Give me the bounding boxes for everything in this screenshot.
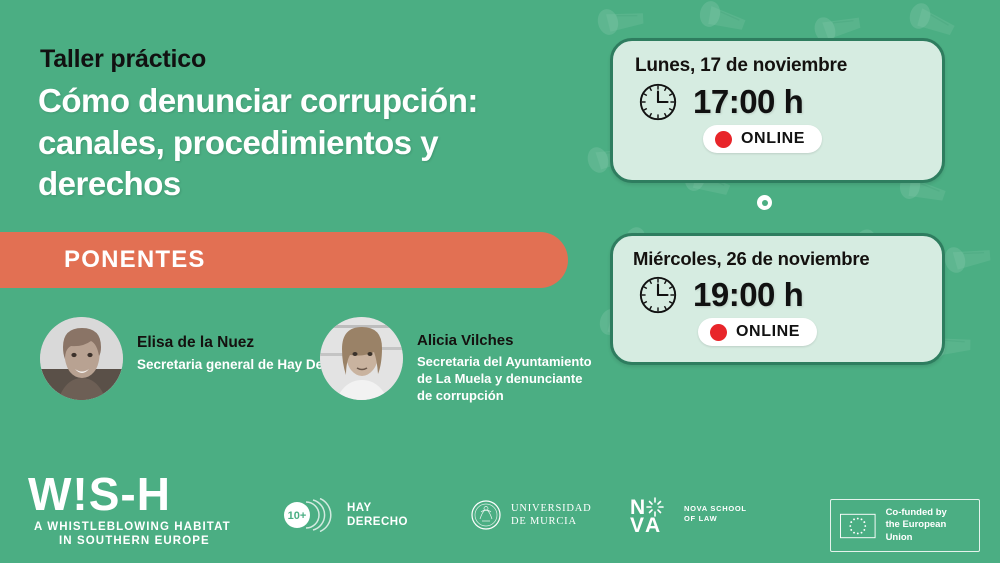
partner-name-line2: the European Union — [886, 519, 970, 544]
wish-logo: W!S-H A WHISTLEBLOWING HABITAT IN SOUTHE… — [28, 470, 243, 548]
dot-separator-icon — [757, 195, 772, 210]
wish-wordmark-text: W!S-H — [28, 470, 171, 520]
partner-name-line2: DERECHO — [347, 515, 408, 529]
status-badge: ONLINE — [703, 125, 822, 153]
partner-name: NOVA SCHOOL OF LAW — [684, 504, 747, 524]
session-date: Lunes, 17 de noviembre — [635, 55, 942, 77]
partner-name-line1: Co-funded by — [886, 507, 970, 519]
page-title: Cómo denunciar corrupción: canales, proc… — [38, 80, 568, 205]
session-card: Lunes, 17 de noviembre 17:00 h ONLINE — [610, 38, 945, 183]
speaker-portrait-photo — [320, 317, 403, 400]
partner-hay-derecho: 10+ HAY DERECHO — [280, 498, 408, 532]
session-time: 17:00 h — [693, 83, 803, 121]
speakers-banner: PONENTES — [0, 232, 568, 288]
session-card: Miércoles, 26 de noviembre 19:00 h ONLIN… — [610, 233, 945, 365]
status-badge-label: ONLINE — [736, 323, 800, 341]
svg-text:A: A — [645, 514, 660, 534]
wish-tagline-line1: A WHISTLEBLOWING HABITAT — [34, 521, 231, 533]
event-poster: { "colors": { "background_green": "#4BAE… — [0, 0, 1000, 563]
status-badge: ONLINE — [698, 318, 817, 346]
partner-name-line1: NOVA SCHOOL — [684, 504, 747, 514]
session-time-row: 17:00 h — [637, 81, 942, 123]
session-date: Miércoles, 26 de noviembre — [633, 248, 942, 270]
avatar — [320, 317, 403, 400]
partner-name-line2: DE MURCIA — [511, 515, 592, 528]
eu-flag-icon — [840, 513, 876, 539]
hay-derecho-badge-text: 10+ — [288, 510, 307, 522]
partner-name-line1: UNIVERSIDAD — [511, 502, 592, 515]
partner-logos: 10+ HAY DERECHO UNIVERSIDAD DE MURCIA N … — [280, 492, 980, 547]
partner-name: UNIVERSIDAD DE MURCIA — [511, 502, 592, 528]
kicker-text: Taller práctico — [40, 45, 206, 74]
partner-universidad-de-murcia: UNIVERSIDAD DE MURCIA — [470, 499, 592, 531]
sessions-panel: Lunes, 17 de noviembre 17:00 h ONLINE — [600, 0, 1000, 400]
wish-tagline-line2: IN SOUTHERN EUROPE — [59, 535, 210, 547]
speaker-card: Alicia Vilches Secretaria del Ayuntamien… — [320, 317, 600, 404]
speakers-banner-label: PONENTES — [64, 246, 206, 274]
session-time: 19:00 h — [693, 276, 803, 314]
partner-name: Co-funded by the European Union — [886, 507, 970, 544]
university-crest-icon — [470, 499, 502, 531]
clock-icon — [637, 81, 679, 123]
svg-text:V: V — [630, 514, 644, 534]
red-dot-icon — [715, 131, 732, 148]
wish-wordmark-icon: W!S-H A WHISTLEBLOWING HABITAT IN SOUTHE… — [28, 470, 243, 548]
speaker-portrait-photo — [40, 317, 123, 400]
speaker-role: Secretaria del Ayuntamiento de La Muela … — [417, 353, 600, 404]
nova-starburst-icon: N V A — [630, 494, 676, 534]
partner-nova-school-of-law: N V A NOVA SCHOOL OF LAW — [630, 494, 747, 534]
speaker-card: Elisa de la Nuez Secretaria general de H… — [40, 317, 360, 400]
hay-derecho-ripple-icon: 10+ — [280, 498, 336, 532]
speaker-info: Alicia Vilches Secretaria del Ayuntamien… — [417, 317, 600, 404]
partner-name-line1: HAY — [347, 501, 408, 515]
eu-badge: Co-funded by the European Union — [830, 499, 980, 552]
session-time-row: 19:00 h — [637, 274, 942, 316]
partner-name-line2: OF LAW — [684, 514, 747, 524]
clock-icon — [637, 274, 679, 316]
red-dot-icon — [710, 324, 727, 341]
speaker-name: Alicia Vilches — [417, 332, 600, 350]
status-badge-label: ONLINE — [741, 130, 805, 148]
partner-european-union: Co-funded by the European Union — [830, 499, 980, 552]
avatar — [40, 317, 123, 400]
partner-name: HAY DERECHO — [347, 501, 408, 529]
